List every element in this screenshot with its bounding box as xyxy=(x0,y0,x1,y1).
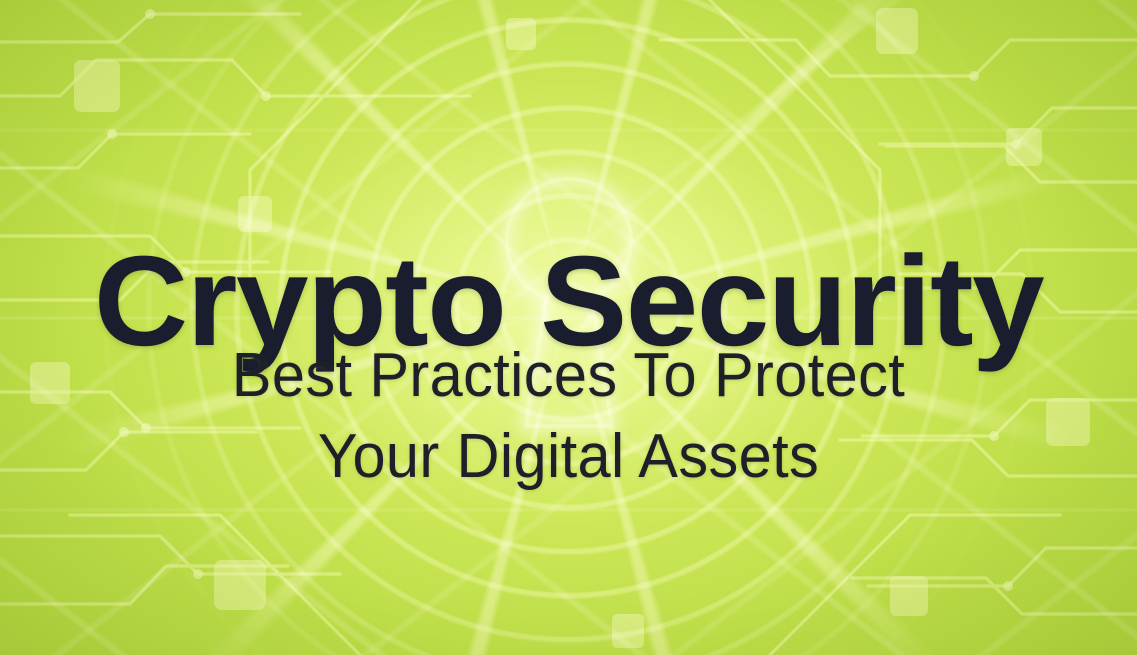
crypto-security-banner: Crypto Security Best Practices To Protec… xyxy=(0,0,1137,655)
banner-subtitle-line-2: Your Digital Assets xyxy=(23,417,1115,498)
banner-subtitle: Best Practices To Protect Your Digital A… xyxy=(23,336,1115,497)
banner-content: Crypto Security Best Practices To Protec… xyxy=(0,0,1137,655)
banner-subtitle-line-1: Best Practices To Protect xyxy=(23,336,1115,417)
